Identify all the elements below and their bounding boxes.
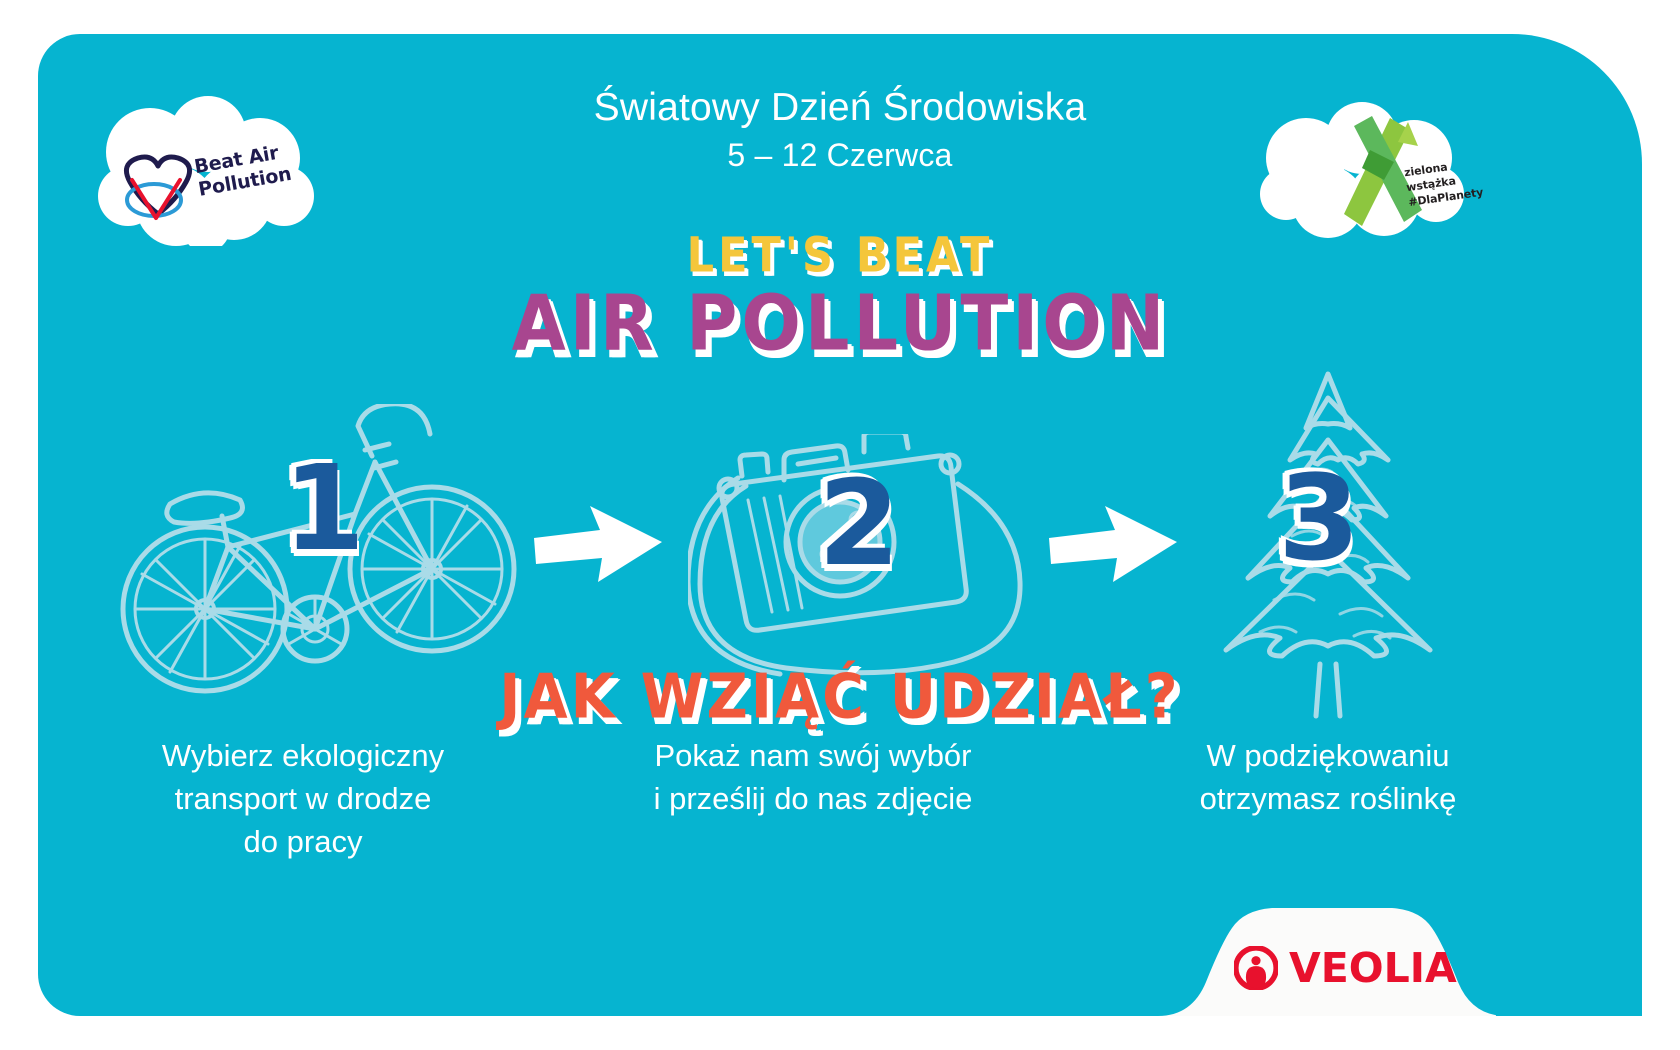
arrow-right-icon: [1043, 494, 1183, 590]
teal-panel: Światowy Dzień Środowiska 5 – 12 Czerwca…: [38, 34, 1642, 1016]
headline-line-bottom: AIR POLLUTION: [38, 280, 1642, 366]
veolia-wordmark: VEOLIA: [1289, 948, 1457, 989]
veolia-logo: VEOLIA: [1234, 946, 1457, 990]
step-caption-3: W podziękowaniu otrzymasz roślinkę: [1093, 734, 1563, 820]
zielona-wstazka-badge: zielona wstążka #DlaPlanety: [1258, 102, 1478, 242]
step-caption-2: Pokaż nam swój wybór i prześlij do nas z…: [578, 734, 1048, 820]
beat-air-pollution-badge: Beat Air Pollution: [88, 96, 328, 246]
section-question: JAK WZIĄĆ UDZIAŁ?: [38, 661, 1642, 732]
step-number-1: 1: [283, 449, 365, 567]
arrow-right-icon: [528, 494, 668, 590]
veolia-mark-icon: [1234, 946, 1278, 990]
step-caption-1: Wybierz ekologiczny transport w drodze d…: [68, 734, 538, 863]
infographic-canvas: Światowy Dzień Środowiska 5 – 12 Czerwca…: [0, 0, 1680, 1050]
step-number-2: 2: [818, 464, 900, 582]
step-number-3: 3: [1278, 459, 1360, 577]
headline: LET'S BEAT AIR POLLUTION: [38, 232, 1642, 362]
